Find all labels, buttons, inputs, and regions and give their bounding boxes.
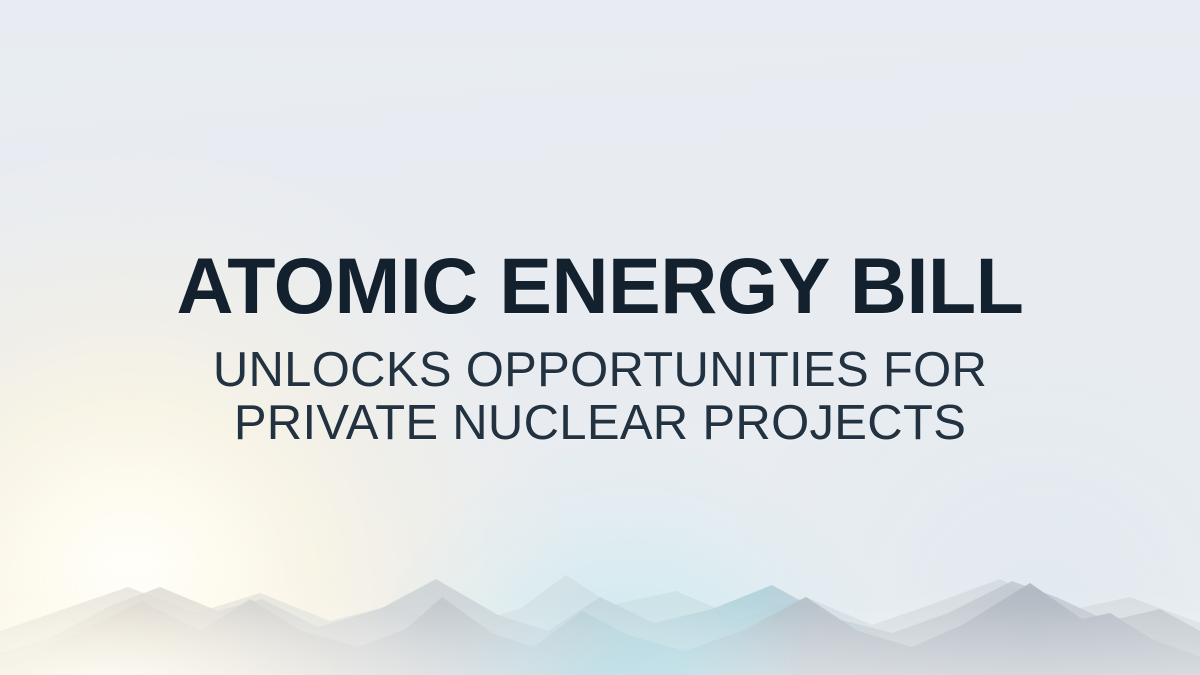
slide-subtitle-line-1: UNLOCKS OPPORTUNITIES FOR <box>0 344 1200 397</box>
slide-subtitle-line-2: PRIVATE NUCLEAR PROJECTS <box>0 397 1200 450</box>
slide-content: ATOMIC ENERGY BILL UNLOCKS OPPORTUNITIES… <box>0 0 1200 675</box>
slide-subtitle: UNLOCKS OPPORTUNITIES FOR PRIVATE NUCLEA… <box>0 344 1200 450</box>
slide-canvas: ATOMIC ENERGY BILL UNLOCKS OPPORTUNITIES… <box>0 0 1200 675</box>
page-title: ATOMIC ENERGY BILL <box>0 246 1200 325</box>
